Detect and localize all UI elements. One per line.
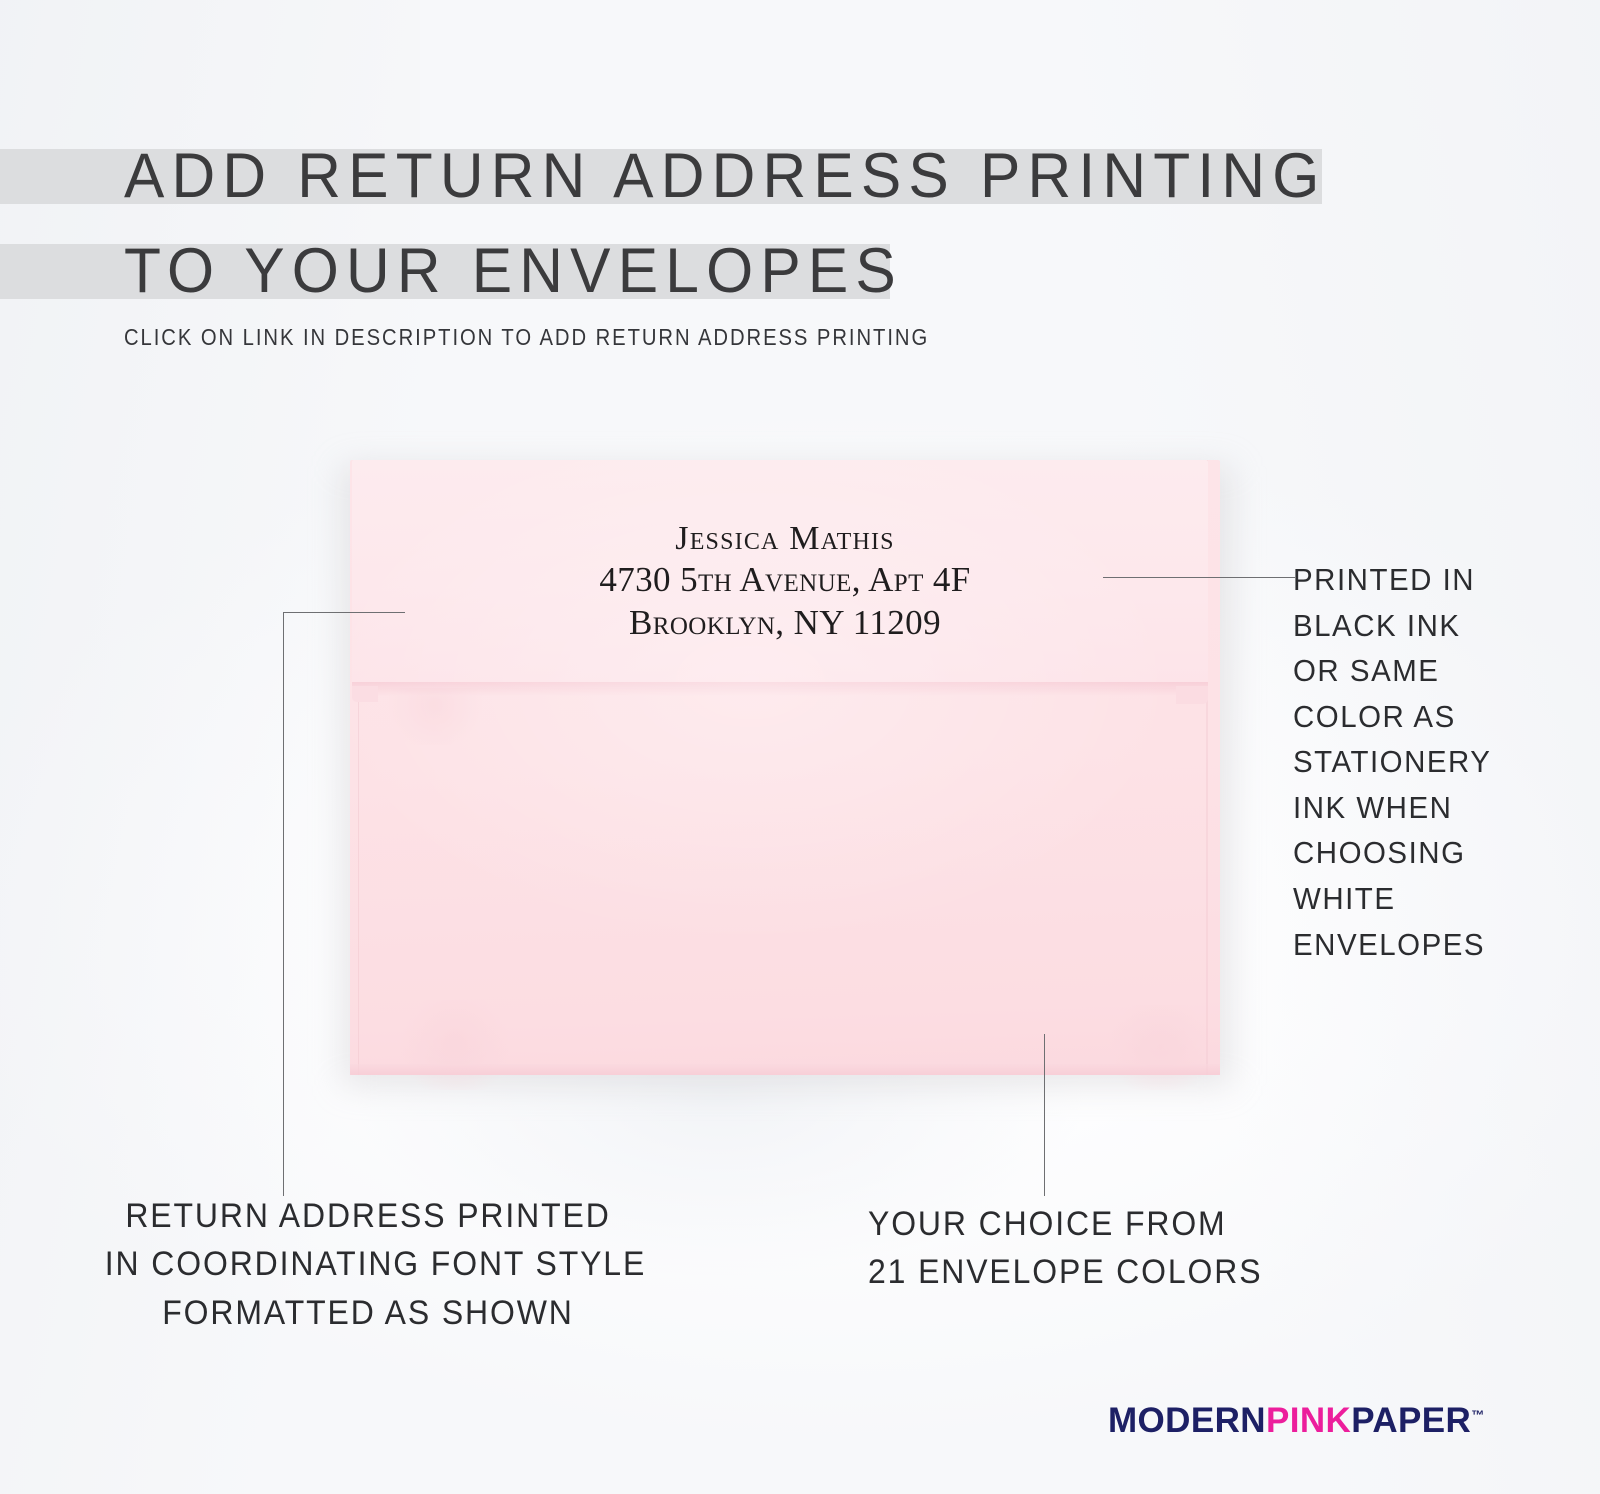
leader-line-center-vertical (1044, 1034, 1045, 1196)
callout-line: STATIONERY (1293, 739, 1578, 785)
page-title-line-1: ADD RETURN ADDRESS PRINTING (124, 145, 1327, 208)
callout-line: 21 ENVELOPE COLORS (868, 1248, 1263, 1296)
envelope-mockup: Jessica Mathis 4730 5th Avenue, Apt 4F B… (350, 460, 1220, 1075)
callout-line: FORMATTED AS SHOWN (105, 1289, 631, 1337)
logo-text-paper: PAPER (1351, 1401, 1471, 1440)
callout-line: RETURN ADDRESS PRINTED (105, 1192, 631, 1240)
callout-line: OR SAME (1293, 648, 1578, 694)
envelope-flap-lip-right (1176, 686, 1208, 704)
callout-line: BLACK INK (1293, 603, 1578, 649)
callout-return-address-font: RETURN ADDRESS PRINTED IN COORDINATING F… (105, 1192, 631, 1337)
leader-line-left-vertical (283, 612, 284, 1196)
printed-return-address: Jessica Mathis 4730 5th Avenue, Apt 4F B… (350, 518, 1220, 645)
callout-line: ENVELOPES (1293, 922, 1578, 968)
brand-logo: MODERNPINKPAPER™ (1108, 1403, 1484, 1438)
page-subtitle: CLICK ON LINK IN DESCRIPTION TO ADD RETU… (124, 324, 929, 351)
callout-line: YOUR CHOICE FROM (868, 1200, 1263, 1248)
return-address-name: Jessica Mathis (350, 518, 1220, 559)
callout-line: WHITE (1293, 876, 1578, 922)
callout-envelope-colors: YOUR CHOICE FROM 21 ENVELOPE COLORS (868, 1200, 1263, 1297)
logo-text-pink: PINK (1266, 1401, 1351, 1440)
page-title-line-2: TO YOUR ENVELOPES (124, 240, 903, 303)
envelope-flap-lip-left (352, 686, 378, 702)
callout-line: PRINTED IN (1293, 557, 1578, 603)
callout-line: COLOR AS (1293, 694, 1578, 740)
callout-line: INK WHEN (1293, 785, 1578, 831)
envelope-flap-edge (352, 682, 1208, 696)
page-canvas: ADD RETURN ADDRESS PRINTING TO YOUR ENVE… (0, 0, 1600, 1494)
return-address-city-state-zip: Brooklyn, NY 11209 (350, 602, 1220, 645)
envelope-bottom-edge (350, 1064, 1220, 1075)
trademark-icon: ™ (1471, 1407, 1484, 1422)
leader-line-left-horizontal (283, 612, 405, 613)
leader-line-right-horizontal (1103, 577, 1295, 578)
callout-line: CHOOSING (1293, 830, 1578, 876)
return-address-street: 4730 5th Avenue, Apt 4F (350, 559, 1220, 602)
logo-text-modern: MODERN (1108, 1401, 1266, 1440)
callout-printed-ink-color: PRINTED IN BLACK INK OR SAME COLOR AS ST… (1293, 557, 1578, 967)
callout-line: IN COORDINATING FONT STYLE (105, 1240, 631, 1288)
